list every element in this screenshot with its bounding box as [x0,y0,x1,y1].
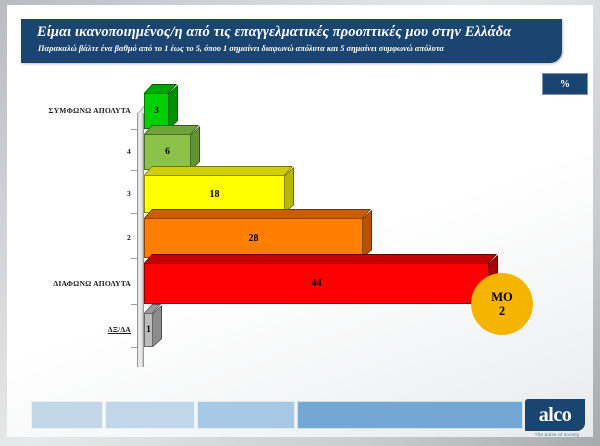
bar-front-face: 6 [144,134,191,170]
bar-1: 3 [144,93,169,129]
axis-tick-6 [131,347,137,348]
bar-front-face: 18 [144,175,285,213]
axis-tick-1 [131,129,137,130]
category-label-4: 2 [21,233,131,242]
bar-4: 28 [144,218,363,258]
bar-5: 44 [144,263,489,304]
axis-tick-2 [131,170,137,171]
category-label-5: ΔΙΑΦΩΝΩ ΑΠΟΛΥΤΑ [21,279,131,288]
bar-front-face: 28 [144,218,363,258]
bar-value-label: 6 [165,147,170,157]
footer-block-2 [105,401,195,429]
slide-canvas: Είμαι ικανοποιημένος/η από τις επαγγελμα… [7,5,593,437]
bar-top-face [144,254,497,263]
bar-2: 6 [144,134,191,170]
footer-block-1 [31,401,103,429]
page-subtitle: Παρακαλώ βάλτε ένα βαθμό από το 1 έως το… [38,44,444,53]
mean-value: 2 [499,304,505,318]
bar-value-label: 44 [312,278,322,289]
bar-side-face [191,126,200,170]
bar-3: 18 [144,175,285,213]
category-axis-wall [137,113,144,367]
alco-logo: alco [525,399,585,431]
bar-side-face [285,167,294,213]
bar-value-label: 3 [154,106,159,116]
category-label-3: 3 [21,189,131,198]
mean-label: ΜΟ [491,290,513,304]
bar-front-face: 44 [144,263,489,304]
page-title: Είμαι ικανοποιημένος/η από τις επαγγελμα… [37,24,511,41]
category-label-2: 4 [21,147,131,156]
footer-block-4 [297,401,523,429]
category-axis-labels: ΣΥΜΦΩΝΩ ΑΠΟΛΥΤΑ432ΔΙΑΦΩΝΩ ΑΠΟΛΥΤΑΔΞ/ΔΑ [15,71,131,377]
mean-score-bubble: ΜΟ 2 [471,273,533,335]
slide-frame: Είμαι ικανοποιημένος/η από τις επαγγελμα… [0,0,600,446]
bar-side-face [169,85,178,129]
bar-value-label: 1 [146,325,151,335]
logo-tagline: The pulse of society [527,433,587,437]
bar-front-face: 1 [144,313,153,347]
category-label-6: ΔΞ/ΔΑ [21,325,131,334]
footer-bar: alco The pulse of society [7,393,593,437]
logo-wordmark: alco [539,405,571,425]
bar-value-label: 18 [210,189,220,200]
bar-side-face [363,210,372,258]
bar-6: 1 [144,313,153,347]
bar-top-face [144,209,371,218]
category-label-1: ΣΥΜΦΩΝΩ ΑΠΟΛΥΤΑ [21,106,131,115]
footer-block-3 [197,401,295,429]
chart-plot-area: ΣΥΜΦΩΝΩ ΑΠΟΛΥΤΑ432ΔΙΑΦΩΝΩ ΑΠΟΛΥΤΑΔΞ/ΔΑ 3… [7,71,593,377]
bar-side-face [153,305,162,347]
axis-tick-5 [131,304,137,305]
axis-tick-3 [131,213,137,214]
bar-value-label: 28 [249,233,259,244]
title-banner: Είμαι ικανοποιημένος/η από τις επαγγελμα… [21,19,562,63]
bar-front-face: 3 [144,93,169,129]
axis-tick-4 [131,258,137,259]
bar-top-face [144,166,293,175]
